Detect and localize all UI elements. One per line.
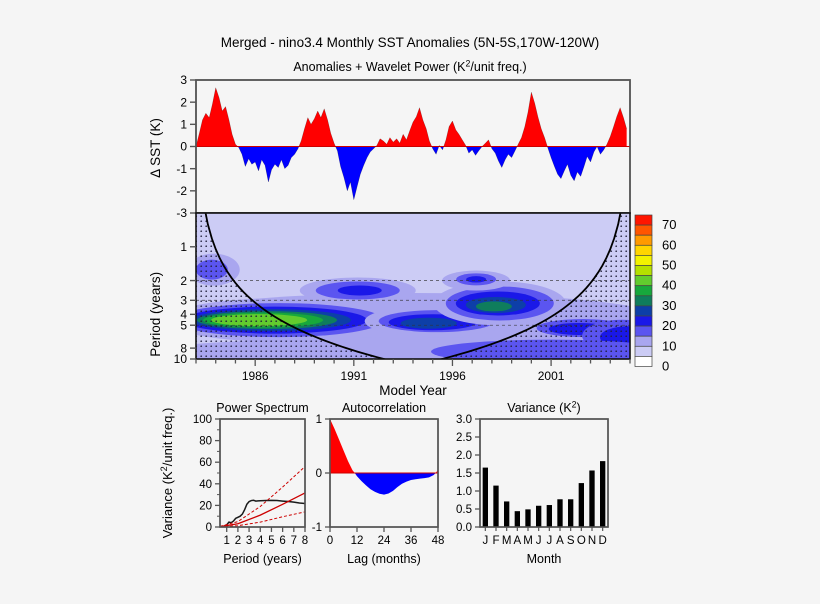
spectrum-ytick-label: 0 xyxy=(206,522,212,534)
anomaly-ytick-label: 3 xyxy=(180,73,187,87)
colorbar-band xyxy=(635,296,652,306)
wavelet-contour-band xyxy=(476,301,512,311)
variance-xtick-label: N xyxy=(588,535,596,547)
variance-xtick-label: D xyxy=(599,535,607,547)
colorbar-band xyxy=(635,346,652,356)
wavelet-ytick-label: 3 xyxy=(180,294,187,308)
spectrum-xtick-label: 6 xyxy=(279,535,285,547)
spectrum-ytick-label: 60 xyxy=(199,457,212,469)
anomaly-ytick-label: 0 xyxy=(180,140,187,154)
colorbar-tick-label: 20 xyxy=(662,318,676,333)
variance-title: Variance (K2) xyxy=(507,399,580,415)
variance-bar xyxy=(579,483,584,527)
variance-xtick-label: M xyxy=(502,535,512,547)
figure-title: Merged - nino3.4 Monthly SST Anomalies (… xyxy=(221,35,599,50)
variance-xtick-label: S xyxy=(567,535,575,547)
colorbar-band xyxy=(635,326,652,336)
variance-ytick-label: 1.5 xyxy=(456,468,472,480)
variance-xtick-label: J xyxy=(546,535,552,547)
variance-ytick-label: 3.0 xyxy=(456,414,472,426)
wavelet-ytick-label: 1 xyxy=(180,240,187,254)
colorbar-band xyxy=(635,276,652,286)
anomaly-ytick-label: -3 xyxy=(176,206,187,220)
spectrum-ytick-label: 80 xyxy=(199,436,212,448)
wavelet-contour-band xyxy=(338,285,382,295)
anomaly-ytick-label: 1 xyxy=(180,118,187,132)
colorbar-band xyxy=(635,286,652,296)
spectrum-ytick-label: 40 xyxy=(199,479,212,491)
spectrum-plot-area xyxy=(220,419,305,527)
variance-bar xyxy=(600,461,605,527)
spectrum-xtick-label: 7 xyxy=(291,535,297,547)
wavelet-ytick-label: 5 xyxy=(180,318,187,332)
anomaly-ytick-label: -1 xyxy=(176,162,187,176)
colorbar-tick-label: 40 xyxy=(662,278,676,293)
colorbar-band xyxy=(635,215,652,225)
spectrum-xlabel: Period (years) xyxy=(223,552,302,566)
variance-bar xyxy=(525,509,530,527)
spectrum-xtick-label: 4 xyxy=(257,535,264,547)
variance-bar xyxy=(547,505,552,527)
spectrum-ylabel: Variance (K2/unit freq.) xyxy=(159,408,175,539)
variance-xtick-label: J xyxy=(482,535,488,547)
variance-xtick-label: A xyxy=(556,535,564,547)
variance-ytick-label: 2.0 xyxy=(456,450,472,462)
variance-xlabel: Month xyxy=(527,552,562,566)
colorbar-band xyxy=(635,356,652,366)
variance-xtick-label: M xyxy=(523,535,533,547)
anomaly-ylabel: Δ SST (K) xyxy=(148,118,163,178)
variance-bar xyxy=(589,470,594,527)
colorbar-band xyxy=(635,316,652,326)
colorbar-band xyxy=(635,225,652,235)
autocorr-xtick-label: 48 xyxy=(432,535,445,547)
variance-ytick-label: 2.5 xyxy=(456,432,472,444)
wavelet-contour-band xyxy=(466,276,486,282)
colorbar-tick-label: 30 xyxy=(662,298,676,313)
variance-xtick-label: O xyxy=(577,535,586,547)
wavelet-xtick-label: 2001 xyxy=(538,369,565,383)
autocorr-xtick-label: 36 xyxy=(405,535,418,547)
colorbar-band xyxy=(635,266,652,276)
wavelet-ytick-label: 10 xyxy=(174,352,188,366)
spectrum-ytick-label: 20 xyxy=(199,500,212,512)
autocorr-ytick-label: -1 xyxy=(312,522,322,534)
spectrum-xtick-label: 2 xyxy=(235,535,241,547)
spectrum-xtick-label: 5 xyxy=(268,535,274,547)
anomaly-ytick-label: -2 xyxy=(176,184,187,198)
autocorr-title: Autocorrelation xyxy=(342,401,426,415)
variance-bar xyxy=(504,501,509,527)
spectrum-xtick-label: 1 xyxy=(224,535,230,547)
wavelet-ylabel: Period (years) xyxy=(148,272,163,357)
spectrum-ytick-label: 100 xyxy=(193,414,212,426)
wavelet-xtick-label: 1991 xyxy=(340,369,367,383)
variance-bar xyxy=(568,499,573,527)
variance-bar xyxy=(483,468,488,527)
variance-xtick-label: F xyxy=(492,535,499,547)
colorbar-tick-label: 10 xyxy=(662,338,676,353)
variance-bar xyxy=(557,499,562,527)
wavelet-contour-band xyxy=(401,318,457,329)
colorbar-tick-label: 0 xyxy=(662,359,669,374)
colorbar-tick-label: 60 xyxy=(662,237,676,252)
autocorr-xtick-label: 24 xyxy=(378,535,391,547)
variance-ytick-label: 1.0 xyxy=(456,486,472,498)
autocorr-ytick-label: 0 xyxy=(316,468,322,480)
anomaly-ytick-label: 2 xyxy=(180,95,187,109)
variance-ytick-label: 0.5 xyxy=(456,504,472,516)
colorbar-band xyxy=(635,245,652,255)
colorbar-band xyxy=(635,336,652,346)
autocorr-xtick-label: 0 xyxy=(327,535,333,547)
figure-canvas: Merged - nino3.4 Monthly SST Anomalies (… xyxy=(0,0,820,604)
variance-plot-area xyxy=(480,419,608,527)
autocorr-xlabel: Lag (months) xyxy=(347,552,421,566)
variance-xtick-label: J xyxy=(536,535,542,547)
colorbar-band xyxy=(635,235,652,245)
figure-root: Merged - nino3.4 Monthly SST Anomalies (… xyxy=(0,0,820,604)
colorbar-band xyxy=(635,255,652,265)
wavelet-xlabel: Model Year xyxy=(379,383,447,398)
variance-xtick-label: A xyxy=(513,535,521,547)
wavelet-ytick-label: 2 xyxy=(180,274,187,288)
autocorr-xtick-label: 12 xyxy=(351,535,364,547)
colorbar-band xyxy=(635,306,652,316)
figure-subtitle: Anomalies + Wavelet Power (K2/unit freq.… xyxy=(293,58,526,74)
autocorr-ytick-label: 1 xyxy=(316,414,322,426)
variance-ytick-label: 0.0 xyxy=(456,522,472,534)
wavelet-xtick-label: 1986 xyxy=(242,369,269,383)
variance-bar xyxy=(515,511,520,527)
variance-bar xyxy=(493,486,498,527)
spectrum-xtick-label: 8 xyxy=(302,535,308,547)
colorbar-tick-label: 50 xyxy=(662,258,676,273)
variance-bar xyxy=(536,506,541,527)
spectrum-xtick-label: 3 xyxy=(246,535,252,547)
spectrum-title: Power Spectrum xyxy=(216,401,308,415)
colorbar-tick-label: 70 xyxy=(662,217,676,232)
wavelet-xtick-label: 1996 xyxy=(439,369,466,383)
